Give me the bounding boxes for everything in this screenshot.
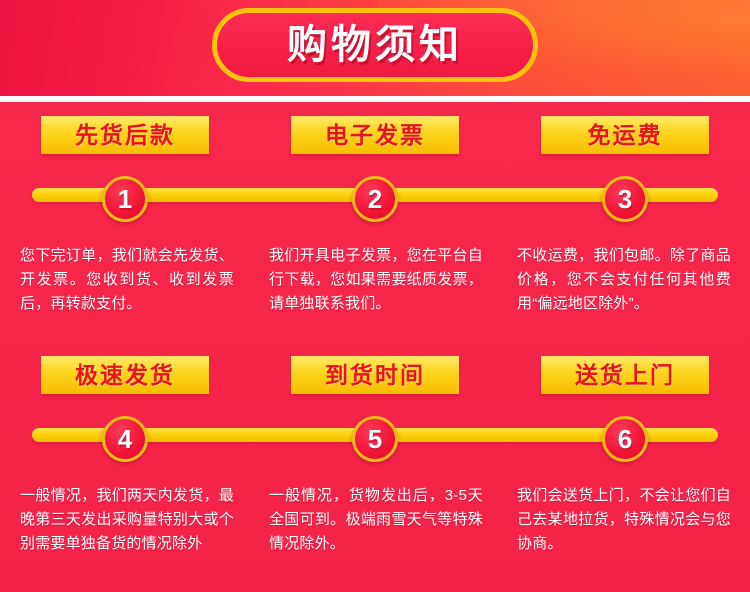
notice-item-6-title: 送货上门 bbox=[575, 364, 675, 387]
notice-item-1-number-badge: 1 bbox=[102, 176, 148, 222]
notice-item-6-banner: 送货上门 bbox=[541, 356, 709, 394]
header-banner: 购物须知 bbox=[0, 0, 750, 96]
notice-item-2-number: 2 bbox=[368, 186, 382, 212]
notice-row-1: 先货后款 1 您下完订单，我们就会先发货、开发票。您收到货、收到发票后，再转款支… bbox=[0, 116, 750, 338]
notice-item-2-title: 电子发票 bbox=[325, 124, 425, 147]
notice-item-5-title: 到货时间 bbox=[325, 364, 425, 387]
notice-item-1: 先货后款 1 您下完订单，我们就会先发货、开发票。您收到货、收到发票后，再转款支… bbox=[0, 116, 250, 316]
notice-cells-row-1: 先货后款 1 您下完订单，我们就会先发货、开发票。您收到货、收到发票后，再转款支… bbox=[0, 116, 750, 316]
notice-item-6-description: 我们会送货上门，不会让您们自己去某地拉货，特殊情况会与您协商。 bbox=[515, 484, 735, 556]
notice-item-2-number-badge: 2 bbox=[352, 176, 398, 222]
notice-item-4: 极速发货 4 一般情况，我们两天内发货，最晚第三天发出采购量特别大或个别需要单独… bbox=[0, 356, 250, 556]
notice-item-5-description: 一般情况，货物发出后，3-5天全国可到。极端雨雪天气等特殊情况除外。 bbox=[265, 484, 485, 556]
notice-item-5-number: 5 bbox=[368, 426, 382, 452]
notice-item-3-title: 免运费 bbox=[588, 124, 663, 147]
notice-cells-row-2: 极速发货 4 一般情况，我们两天内发货，最晚第三天发出采购量特别大或个别需要单独… bbox=[0, 356, 750, 556]
shopping-notice-infographic: 购物须知 先货后款 1 您下完订单，我们就会先发货、开发票。您收到货、收到发票后… bbox=[0, 0, 750, 592]
notice-item-3: 免运费 3 不收运费，我们包邮。除了商品价格，您不会支付任何其他费用“偏远地区除… bbox=[500, 116, 750, 316]
notice-item-2-description: 我们开具电子发票，您在平台自行下载，您如果需要纸质发票，请单独联系我们。 bbox=[265, 244, 485, 316]
notice-row-2: 极速发货 4 一般情况，我们两天内发货，最晚第三天发出采购量特别大或个别需要单独… bbox=[0, 356, 750, 578]
notice-item-1-number: 1 bbox=[118, 186, 132, 212]
notice-item-6-number: 6 bbox=[618, 426, 632, 452]
page-title: 购物须知 bbox=[287, 25, 463, 65]
notice-item-5-number-badge: 5 bbox=[352, 416, 398, 462]
notice-item-4-description: 一般情况，我们两天内发货，最晚第三天发出采购量特别大或个别需要单独备货的情况除外 bbox=[14, 484, 236, 556]
notice-item-5: 到货时间 5 一般情况，货物发出后，3-5天全国可到。极端雨雪天气等特殊情况除外… bbox=[250, 356, 500, 556]
notice-item-4-number: 4 bbox=[118, 426, 132, 452]
notice-item-3-description: 不收运费，我们包邮。除了商品价格，您不会支付任何其他费用“偏远地区除外”。 bbox=[515, 244, 735, 316]
notice-item-1-title: 先货后款 bbox=[75, 124, 175, 147]
notice-item-3-number-badge: 3 bbox=[602, 176, 648, 222]
page-title-pill: 购物须知 bbox=[212, 8, 538, 82]
notice-item-5-banner: 到货时间 bbox=[291, 356, 459, 394]
notice-item-3-banner: 免运费 bbox=[541, 116, 709, 154]
notice-item-1-banner: 先货后款 bbox=[41, 116, 209, 154]
notice-item-4-number-badge: 4 bbox=[102, 416, 148, 462]
notice-item-2-banner: 电子发票 bbox=[291, 116, 459, 154]
header-divider bbox=[0, 96, 750, 102]
notice-item-6: 送货上门 6 我们会送货上门，不会让您们自己去某地拉货，特殊情况会与您协商。 bbox=[500, 356, 750, 556]
notice-item-3-number: 3 bbox=[618, 186, 632, 212]
notice-item-4-banner: 极速发货 bbox=[41, 356, 209, 394]
notice-item-2: 电子发票 2 我们开具电子发票，您在平台自行下载，您如果需要纸质发票，请单独联系… bbox=[250, 116, 500, 316]
notice-item-1-description: 您下完订单，我们就会先发货、开发票。您收到货、收到发票后，再转款支付。 bbox=[14, 244, 236, 316]
notice-item-6-number-badge: 6 bbox=[602, 416, 648, 462]
notice-item-4-title: 极速发货 bbox=[75, 364, 175, 387]
notice-body: 先货后款 1 您下完订单，我们就会先发货、开发票。您收到货、收到发票后，再转款支… bbox=[0, 116, 750, 592]
